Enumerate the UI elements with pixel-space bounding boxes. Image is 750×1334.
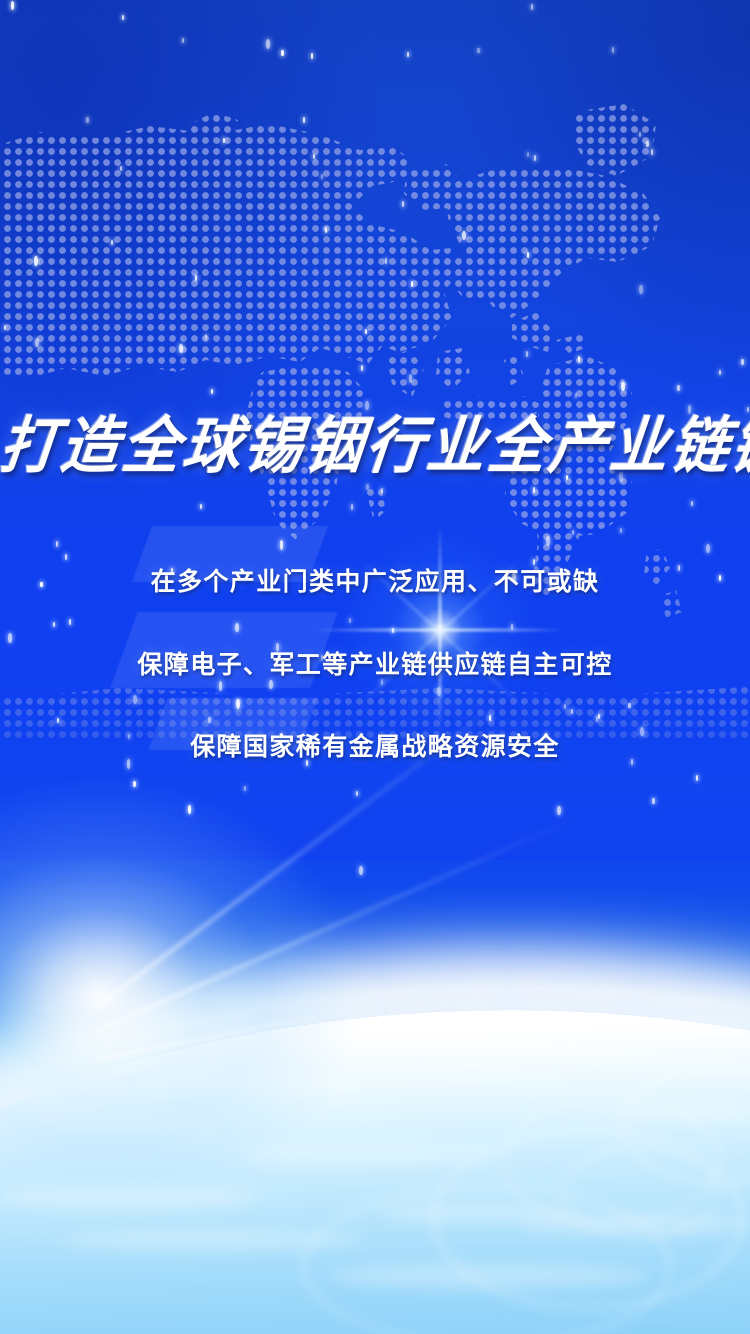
- subtitle-line-1: 在多个产业门类中广泛应用、不可或缺: [0, 562, 750, 598]
- subtitle-line-3: 保障国家稀有金属战略资源安全: [0, 727, 750, 763]
- poster-canvas: 打造全球锡铟行业全产业链链主 在多个产业门类中广泛应用、不可或缺 保障电子、军工…: [0, 0, 750, 1334]
- subtitle-line-2: 保障电子、军工等产业链供应链自主可控: [0, 645, 750, 681]
- page-title: 打造全球锡铟行业全产业链链主: [0, 414, 750, 479]
